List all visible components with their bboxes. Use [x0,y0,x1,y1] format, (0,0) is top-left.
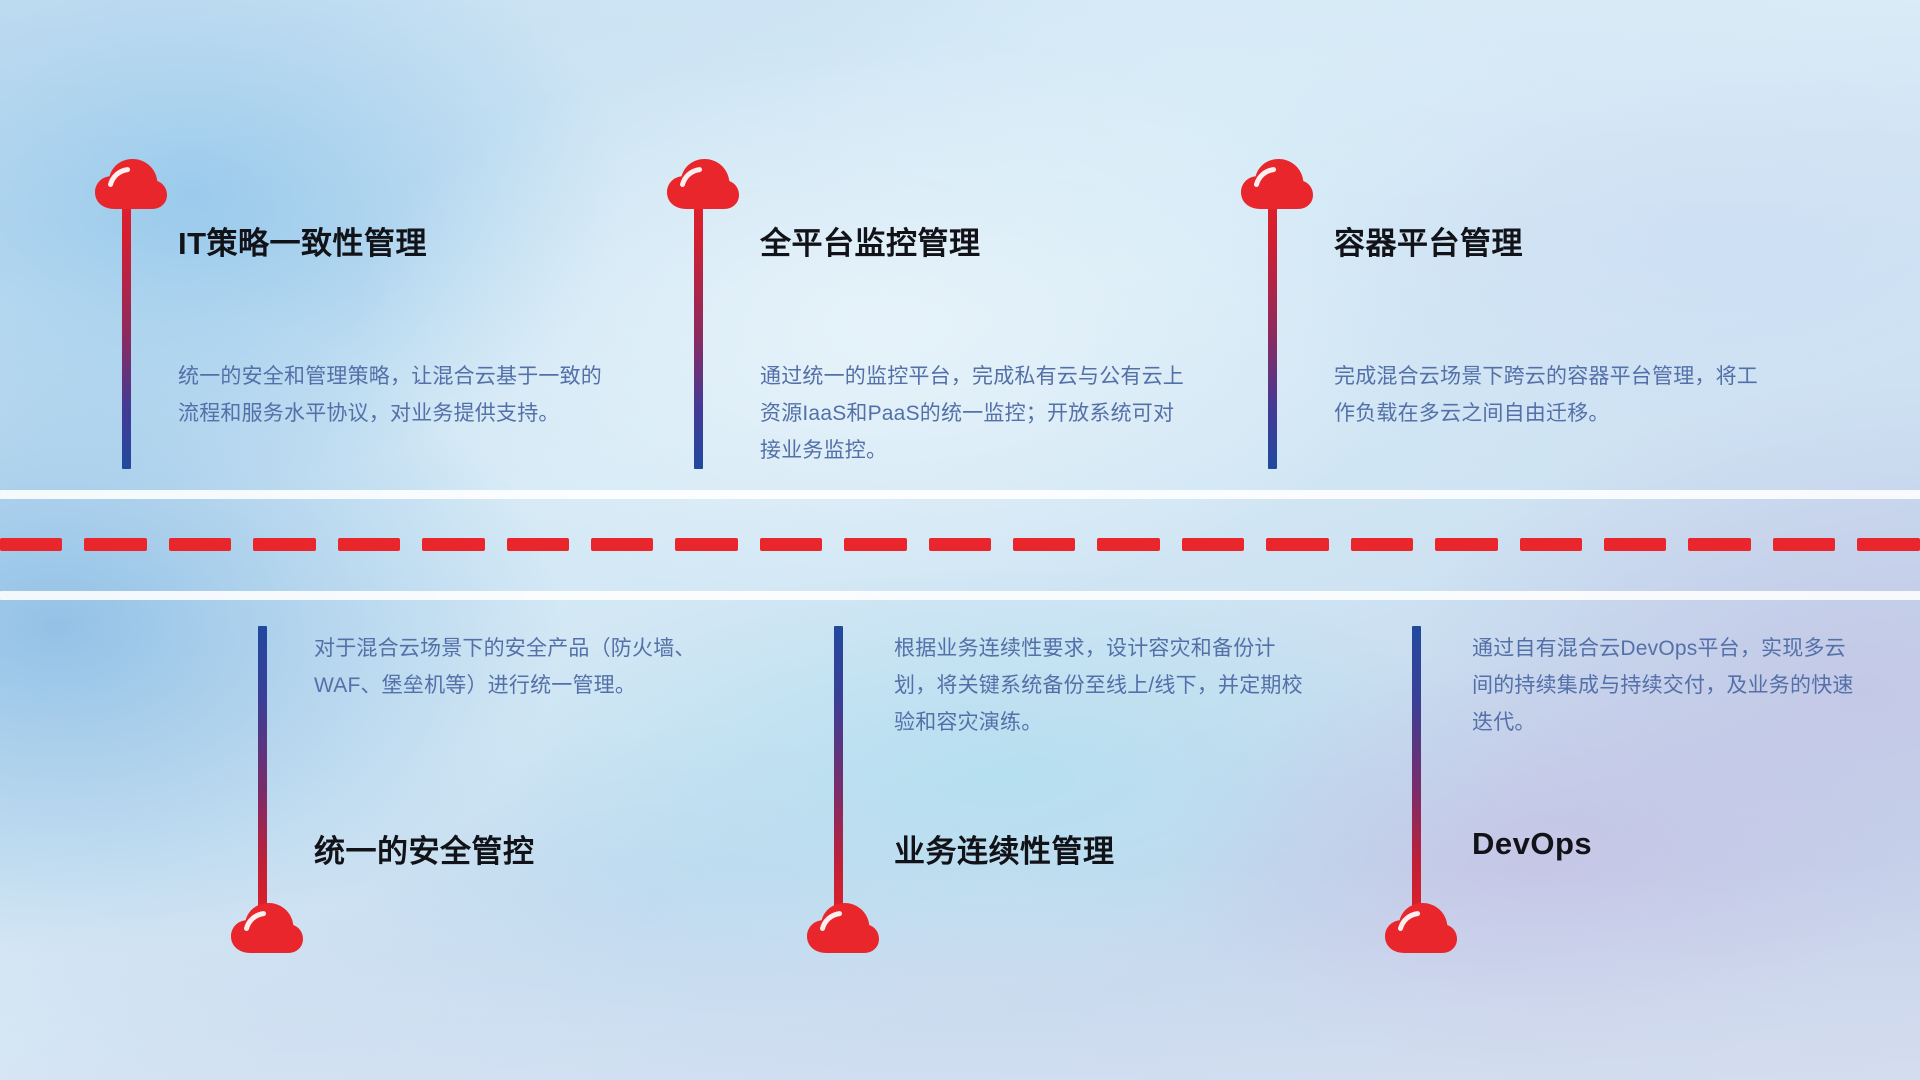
connector-stem [122,186,131,469]
dash-segment [84,538,146,551]
connector-stem [1412,626,1421,909]
divider-band [0,490,1920,600]
dash-segment [253,538,315,551]
dash-segment [1688,538,1750,551]
cloud-icon [1384,902,1458,954]
connector-stem [694,186,703,469]
dash-segment [675,538,737,551]
connector-stem [258,626,267,909]
dash-segment [0,538,62,551]
dash-segment [507,538,569,551]
cloud-icon [94,158,168,210]
dash-segment [1097,538,1159,551]
infographic-canvas: IT策略一致性管理 统一的安全和管理策略，让混合云基于一致的流程和服务水平协议，… [0,0,1920,1080]
item-heading: 业务连续性管理 [894,826,1115,871]
cloud-icon [1240,158,1314,210]
dash-segment [844,538,906,551]
item-heading: IT策略一致性管理 [178,218,427,263]
connector-stem [834,626,843,909]
dash-segment [1773,538,1835,551]
dash-segment [760,538,822,551]
dash-segment [1857,538,1919,551]
item-body: 通过统一的监控平台，完成私有云与公有云上资源IaaS和PaaS的统一监控；开放系… [760,358,1185,469]
dash-segment [591,538,653,551]
dash-segment [338,538,400,551]
dash-segment [1182,538,1244,551]
item-body: 通过自有混合云DevOps平台，实现多云间的持续集成与持续交付，及业务的快速迭代… [1472,630,1862,741]
item-body: 对于混合云场景下的安全产品（防火墙、WAF、堡垒机等）进行统一管理。 [314,630,734,704]
item-heading: 容器平台管理 [1334,218,1523,263]
cloud-icon [806,902,880,954]
dash-segment [1435,538,1497,551]
dash-segment [422,538,484,551]
connector-stem [1268,186,1277,469]
top-white-rule [0,490,1920,499]
dash-segment [1520,538,1582,551]
dash-segment [929,538,991,551]
dash-segment [1351,538,1413,551]
item-body: 完成混合云场景下跨云的容器平台管理，将工作负载在多云之间自由迁移。 [1334,358,1764,432]
cloud-icon [230,902,304,954]
dash-segment [1013,538,1075,551]
item-body: 统一的安全和管理策略，让混合云基于一致的流程和服务水平协议，对业务提供支持。 [178,358,608,432]
cloud-icon [666,158,740,210]
item-body: 根据业务连续性要求，设计容灾和备份计划，将关键系统备份至线上/线下，并定期校验和… [894,630,1314,741]
item-heading: 统一的安全管控 [314,826,535,871]
dash-segment [169,538,231,551]
dash-segment [1266,538,1328,551]
bottom-white-rule [0,591,1920,600]
item-heading: DevOps [1472,826,1592,862]
item-heading: 全平台监控管理 [760,218,981,263]
red-dashed-separator [0,537,1920,551]
dash-segment [1604,538,1666,551]
